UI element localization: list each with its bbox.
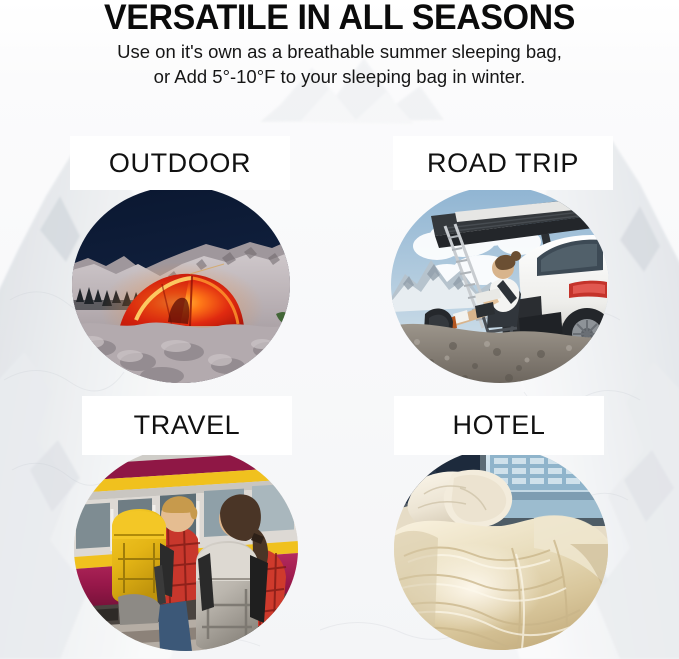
photo-outdoor [72, 186, 290, 383]
card-label-travel: TRAVEL [134, 410, 241, 441]
label-box-road-trip: ROAD TRIP [393, 136, 613, 190]
photo-hotel [394, 448, 608, 650]
label-box-outdoor: OUTDOOR [70, 136, 290, 190]
card-label-hotel: HOTEL [452, 410, 545, 441]
subtitle-line-2: or Add 5°-10°F to your sleeping bag in w… [0, 64, 679, 89]
card-label-road-trip: ROAD TRIP [427, 148, 579, 179]
photo-travel [74, 447, 298, 651]
card-label-outdoor: OUTDOOR [109, 148, 251, 179]
photo-road-trip [391, 186, 609, 383]
page-title: VERSATILE IN ALL SEASONS [10, 1, 669, 35]
label-box-travel: TRAVEL [82, 396, 292, 455]
subtitle-line-1: Use on it's own as a breathable summer s… [117, 41, 562, 62]
label-box-hotel: HOTEL [394, 396, 604, 455]
page-subtitle: Use on it's own as a breathable summer s… [0, 39, 679, 89]
header-block: VERSATILE IN ALL SEASONS Use on it's own… [0, 0, 679, 89]
